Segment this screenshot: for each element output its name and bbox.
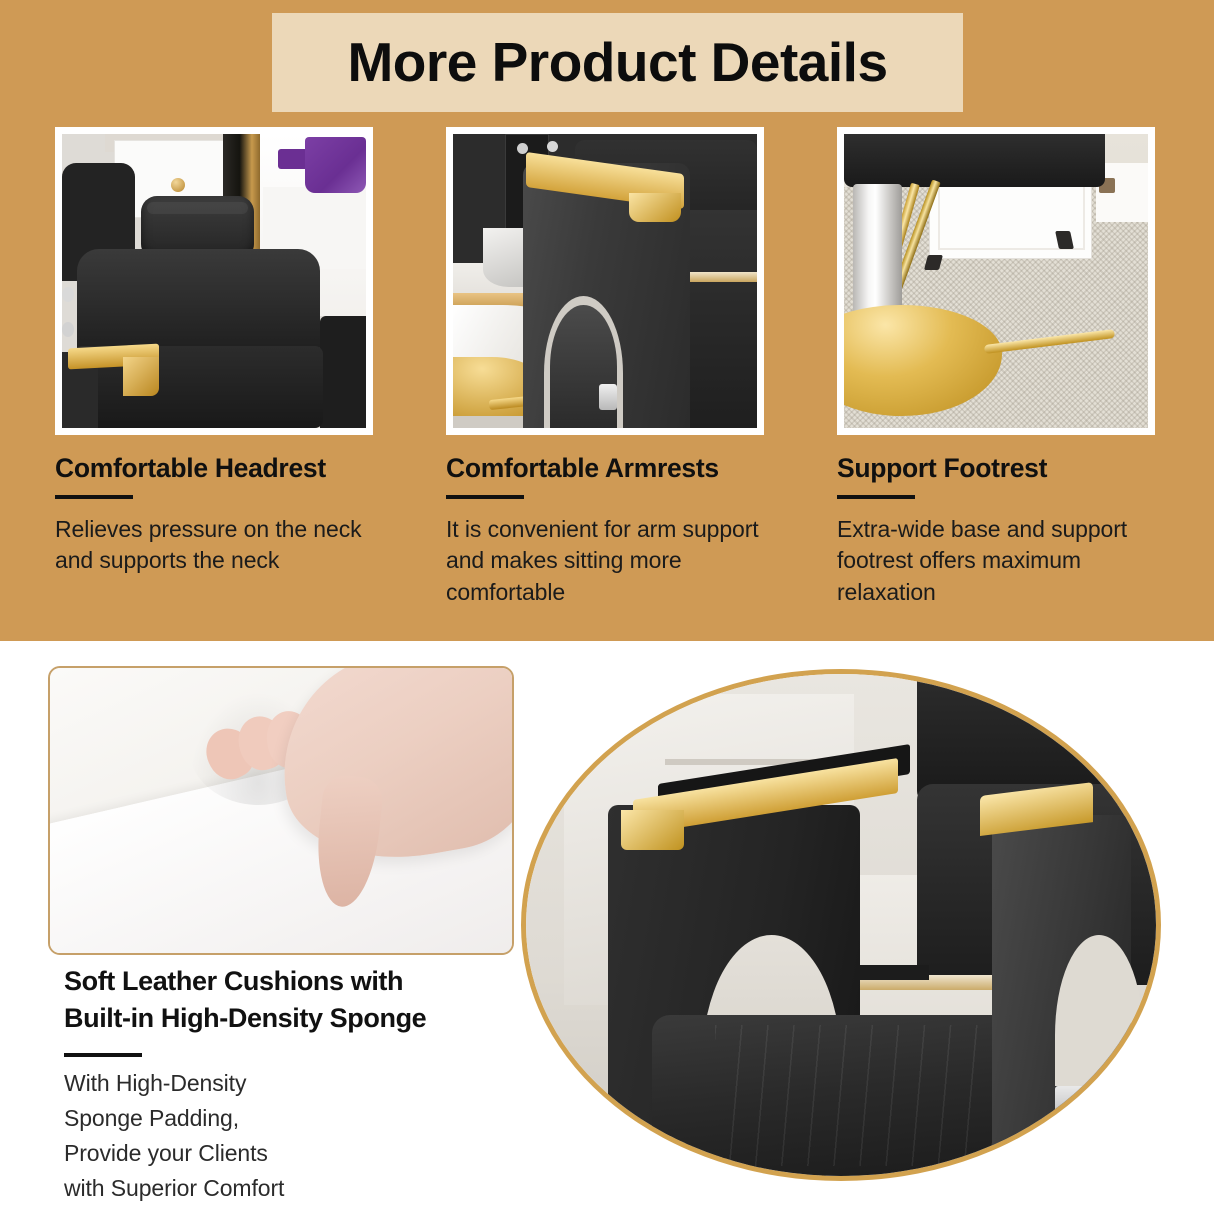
headrest-photo-frame <box>55 127 373 435</box>
title-banner: More Product Details <box>272 13 963 112</box>
bottom-body: With High-Density Sponge Padding, Provid… <box>64 1066 484 1206</box>
page-title: More Product Details <box>347 35 887 90</box>
brand-badge-icon <box>1055 1086 1087 1126</box>
sponge-photo-frame <box>48 666 514 955</box>
feature-column-armrests: Comfortable Armrests It is convenient fo… <box>446 127 764 608</box>
feature-heading: Comfortable Armrests <box>446 454 764 483</box>
chair-seat-armrest-oval-photo <box>526 674 1156 1176</box>
feature-row: Comfortable Headrest Relieves pressure o… <box>0 127 1214 627</box>
heading-divider <box>837 495 915 499</box>
footrest-photo-frame <box>837 127 1155 435</box>
bottom-body-line-1: With High-Density <box>64 1066 484 1101</box>
hand-pressing-sponge-photo <box>50 668 512 953</box>
brand-badge-icon <box>599 384 617 410</box>
bottom-heading-line-2: Built-in High-Density Sponge <box>64 1000 534 1037</box>
bottom-body-line-2: Sponge Padding, <box>64 1101 484 1136</box>
top-section: More Product Details <box>0 0 1214 641</box>
hero-oval-frame <box>521 669 1161 1181</box>
base-footrest-closeup-photo <box>844 134 1148 428</box>
feature-heading: Comfortable Headrest <box>55 454 373 483</box>
heading-divider <box>446 495 524 499</box>
bottom-body-line-4: with Superior Comfort <box>64 1171 484 1206</box>
feature-body: Relieves pressure on the neck and suppor… <box>55 514 373 577</box>
feature-body: Extra-wide base and support footrest off… <box>837 514 1155 608</box>
bottom-section: Soft Leather Cushions with Built-in High… <box>0 641 1214 1214</box>
feature-column-footrest: Support Footrest Extra-wide base and sup… <box>837 127 1155 608</box>
feature-body: It is convenient for arm support and mak… <box>446 514 764 608</box>
feature-column-headrest: Comfortable Headrest Relieves pressure o… <box>55 127 373 577</box>
bottom-heading-line-1: Soft Leather Cushions with <box>64 963 534 1000</box>
bottom-heading: Soft Leather Cushions with Built-in High… <box>64 963 534 1038</box>
armrest-photo-frame <box>446 127 764 435</box>
heading-divider <box>55 495 133 499</box>
armrest-closeup-photo <box>453 134 757 428</box>
feature-heading: Support Footrest <box>837 454 1155 483</box>
bottom-body-line-3: Provide your Clients <box>64 1136 484 1171</box>
headrest-closeup-photo <box>62 134 366 428</box>
bottom-heading-divider <box>64 1053 142 1057</box>
